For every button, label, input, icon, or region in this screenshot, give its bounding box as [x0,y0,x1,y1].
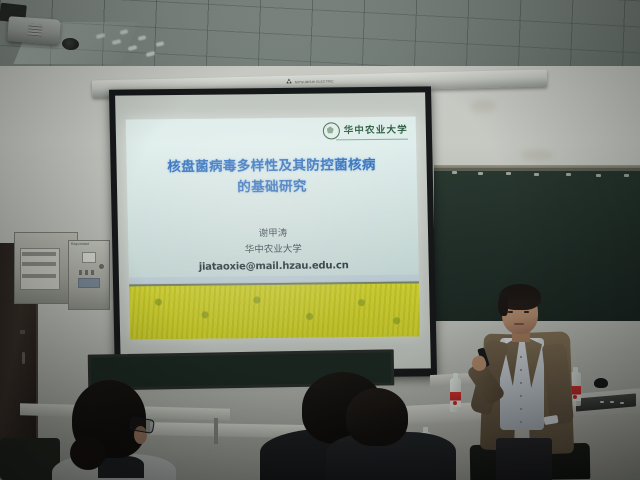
chalk-mark-7 [624,174,629,177]
university-wordmark: 华中农业大学 [344,125,408,135]
panel-display-window [82,252,96,263]
university-logo: 华中农业大学 [322,122,408,140]
projector-vent [28,24,43,37]
logo-divider [336,139,408,141]
university-emblem-icon [322,122,339,139]
presentation-slide: 华中农业大学 核盘菌病毒多样性及其防控菌核病 的基础研究 谢甲涛 华中农业大学 … [126,117,421,340]
chalk-mark-2 [478,172,483,175]
audience-member-left [46,380,176,480]
slide-title-line-2: 的基础研究 [127,175,417,199]
door-handle[interactable] [22,352,25,364]
power-meter-box[interactable] [68,240,110,310]
presenter-hair-side [498,296,508,316]
audience-left-ponytail [70,436,106,470]
author-email: jiataoxie@mail.hzau.edu.cn [129,257,419,277]
equip-led-1 [600,401,604,403]
slide-title: 核盘菌病毒多样性及其防控菌核病 的基础研究 [126,154,417,199]
panel-indicator-dots [79,270,97,275]
breaker-row-3 [22,274,56,278]
wall-stain-3 [520,150,554,160]
rapeseed-field-photo [129,274,420,339]
desk-leg-2 [214,418,218,444]
wall-stain-2 [470,100,496,112]
housing-brand-text: MITSUBISHI ELECTRIC [295,79,334,84]
chalk-mark-3 [506,172,511,175]
audience-left-collar [98,456,144,478]
panel-knob[interactable] [99,264,104,269]
photo-yellow-field [129,284,420,340]
equip-led-3 [620,402,624,404]
chalk-mark-1 [452,171,457,174]
mitsubishi-diamond-icon [285,78,293,85]
presenter-trousers [496,438,552,480]
presenter-mouth [514,323,524,325]
door-lock-icon [20,330,25,334]
breaker-row-1 [22,252,56,256]
chalk-mark-4 [534,173,539,176]
panel-brand-label: Rayonnant [71,242,89,246]
presenter-eye-left [508,311,513,313]
slide-author-block: 谢甲涛 华中农业大学 jiataoxie@mail.hzau.edu.cn [128,224,419,276]
presenter [460,278,600,480]
screen-surface: 华中农业大学 核盘菌病毒多样性及其防控菌核病 的基础研究 谢甲涛 华中农业大学 … [115,92,431,371]
audience-right-head [346,388,408,446]
lecture-hall-scene: MITSUBISHI ELECTRIC Rayonnant 华中农业大学 [0,0,640,480]
presenter-shirt-buttons [520,356,522,426]
audience-member-right [332,388,452,480]
slide-title-line-1: 核盘菌病毒多样性及其防控菌核病 [126,154,416,178]
presenter-eye-right [524,311,529,313]
chalk-mark-5 [566,173,571,176]
panel-meter-readout [78,278,100,288]
projection-screen[interactable]: 华中农业大学 核盘菌病毒多样性及其防控菌核病 的基础研究 谢甲涛 华中农业大学 … [109,86,437,379]
housing-brand-logo: MITSUBISHI ELECTRIC [285,77,334,85]
equip-led-2 [610,401,614,403]
breaker-row-2 [22,262,56,266]
chalk-mark-6 [596,174,601,177]
